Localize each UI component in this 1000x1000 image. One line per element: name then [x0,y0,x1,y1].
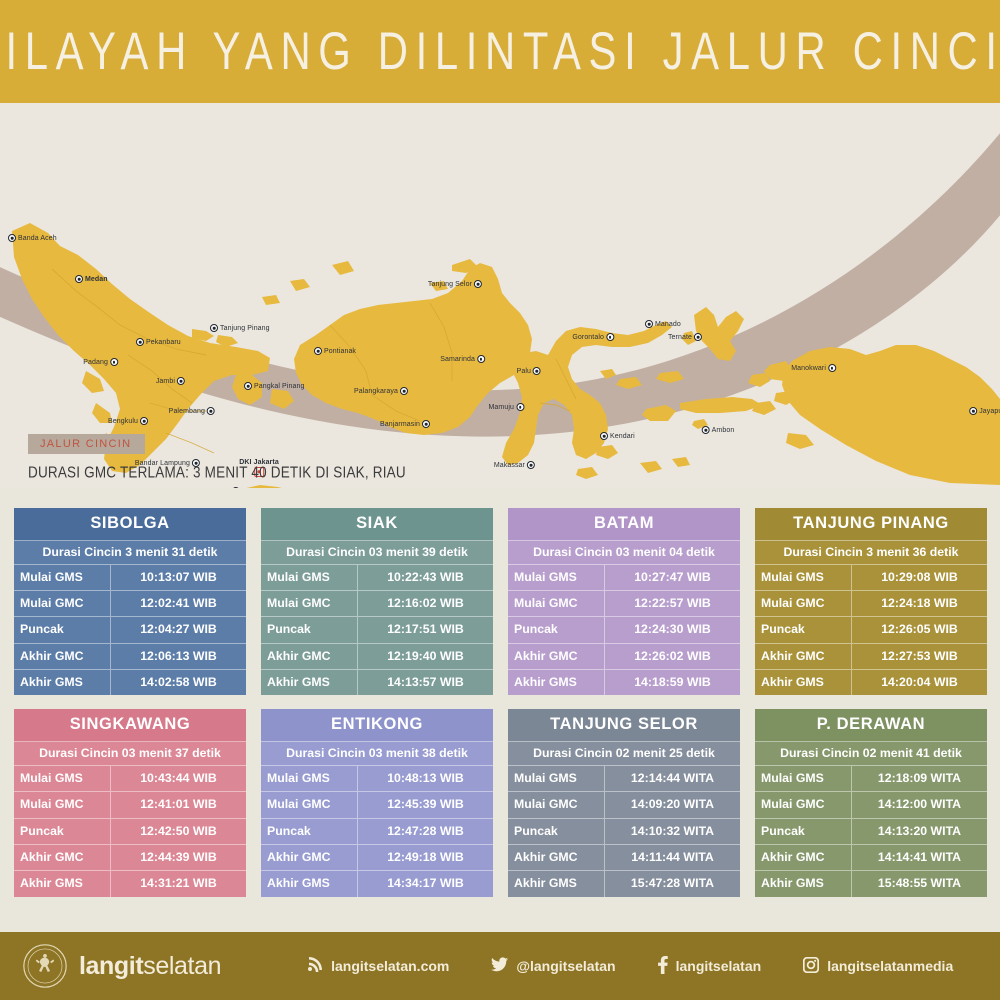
card-row-value: 12:45:39 WIB [357,792,493,817]
card-row: Puncak12:42:50 WIB [14,818,246,844]
card-row-value: 10:27:47 WIB [604,565,740,590]
card-row: Puncak12:04:27 WIB [14,616,246,642]
city-timing-card: TANJUNG PINANGDurasi Cincin 3 menit 36 d… [755,508,987,695]
card-row-value: 12:18:09 WITA [851,766,987,791]
city-timing-card: P. DERAWANDurasi Cincin 02 menit 41 deti… [755,709,987,896]
card-row-label: Mulai GMC [261,792,357,817]
map-city-marker: Manado [645,320,681,328]
card-row-value: 15:47:28 WITA [604,871,740,896]
map-city-marker: Tanjung Pinang [210,324,270,332]
card-duration: Durasi Cincin 02 menit 41 detik [755,742,987,766]
city-dot-icon [8,234,16,242]
card-row-label: Puncak [14,819,110,844]
city-dot-icon [645,320,653,328]
card-duration: Durasi Cincin 03 menit 04 detik [508,541,740,565]
card-row-label: Puncak [755,617,851,642]
card-row: Mulai GMC12:02:41 WIB [14,590,246,616]
card-row-label: Akhir GMC [755,845,851,870]
city-dot-icon [177,377,185,385]
social-link-label: langitselatan [676,958,762,974]
city-name-label: Tanjung Selor [428,281,472,288]
card-title: SIAK [261,508,493,541]
card-row: Mulai GMS10:48:13 WIB [261,766,493,791]
card-row: Puncak12:26:05 WIB [755,616,987,642]
city-dot-icon [210,324,218,332]
card-duration: Durasi Cincin 03 menit 39 detik [261,541,493,565]
map-area: Banda AcehMedanPekanbaruPadangJambiBengk… [0,103,1000,488]
city-dot-icon [516,403,524,411]
card-row-label: Akhir GMS [755,871,851,896]
card-row-label: Akhir GMC [261,644,357,669]
city-name-label: Samarinda [440,356,475,363]
card-row: Akhir GMS14:34:17 WIB [261,870,493,896]
card-row-value: 10:29:08 WIB [851,565,987,590]
card-row-value: 14:14:41 WITA [851,845,987,870]
map-city-marker: Banda Aceh [8,234,57,242]
card-row-value: 14:10:32 WITA [604,819,740,844]
card-duration: Durasi Cincin 02 menit 25 detik [508,742,740,766]
map-city-marker: Medan [75,275,108,283]
map-city-marker: Manokwari [791,364,836,372]
city-dot-icon [232,487,240,488]
card-row: Puncak14:13:20 WITA [755,818,987,844]
city-name-label: Makassar [494,462,525,469]
social-link-instagram[interactable]: langitselatanmedia [803,957,953,976]
city-dot-icon [527,461,535,469]
map-city-marker: Jambi [156,377,185,385]
card-row-value: 10:43:44 WIB [110,766,246,791]
footer-bar: langitselatan langitselatan.com@langitse… [0,932,1000,1000]
card-row-value: 14:11:44 WITA [604,845,740,870]
card-row-label: Akhir GMS [261,670,357,695]
card-row: Akhir GMC12:49:18 WIB [261,844,493,870]
facebook-icon [658,956,668,977]
city-name-label: Ambon [712,427,735,434]
card-row-label: Mulai GMS [14,766,110,791]
card-row-label: Mulai GMS [261,565,357,590]
city-name-label: Medan [85,276,108,283]
city-name-label: Banda Aceh [18,235,57,242]
card-row-label: Puncak [261,617,357,642]
brand-bold: langit [79,952,143,980]
city-name-label: Ternate [668,334,692,341]
card-row-label: Mulai GMC [755,591,851,616]
legend-label: JALUR CINCIN [40,438,131,450]
card-row: Akhir GMC12:44:39 WIB [14,844,246,870]
social-link-label: langitselatanmedia [827,958,953,974]
city-timing-card: TANJUNG SELORDurasi Cincin 02 menit 25 d… [508,709,740,896]
city-name-label: Pangkal Pinang [254,383,304,390]
city-name-label: Bengkulu [108,418,138,425]
social-link-label: langitselatan.com [331,958,449,974]
map-city-marker: Jayapura [969,407,1000,415]
card-row-label: Akhir GMS [508,670,604,695]
city-timing-card: BATAMDurasi Cincin 03 menit 04 detikMula… [508,508,740,695]
card-row-value: 10:22:43 WIB [357,565,493,590]
city-name-label: Manado [655,321,681,328]
card-row-value: 12:02:41 WIB [110,591,246,616]
map-caption: DURASI GMC TERLAMA: 3 MENIT 40 DETIK DI … [28,464,406,481]
map-city-marker: Pontianak [314,347,356,355]
card-row-value: 14:13:57 WIB [357,670,493,695]
card-title: P. DERAWAN [755,709,987,742]
card-row-value: 12:41:01 WIB [110,792,246,817]
city-dot-icon [207,407,215,415]
social-link-label: @langitselatan [516,958,615,974]
city-dot-icon [474,280,482,288]
card-row-value: 12:06:13 WIB [110,644,246,669]
map-city-marker: Gorontalo [572,333,614,341]
card-title: SIBOLGA [14,508,246,541]
card-row-value: 14:34:17 WIB [357,871,493,896]
card-row-label: Mulai GMC [755,792,851,817]
card-row-label: Akhir GMS [14,670,110,695]
card-row: Akhir GMC12:19:40 WIB [261,643,493,669]
landmasses [12,223,1000,488]
indonesia-map [0,103,1000,488]
card-row-label: Akhir GMC [14,845,110,870]
card-row: Akhir GMS15:47:28 WITA [508,870,740,896]
card-row: Mulai GMC12:41:01 WIB [14,791,246,817]
card-row-label: Puncak [14,617,110,642]
card-row-value: 12:49:18 WIB [357,845,493,870]
card-title: TANJUNG SELOR [508,709,740,742]
city-name-label: Pontianak [324,348,356,355]
card-title: ENTIKONG [261,709,493,742]
map-city-marker: Pangkal Pinang [244,382,304,390]
card-row-value: 12:26:05 WIB [851,617,987,642]
city-timing-card: SINGKAWANGDurasi Cincin 03 menit 37 deti… [14,709,246,896]
city-dot-icon [136,338,144,346]
city-name-label: Palu [517,368,531,375]
card-row: Akhir GMC12:26:02 WIB [508,643,740,669]
city-name-label: Gorontalo [572,334,604,341]
card-row: Puncak12:47:28 WIB [261,818,493,844]
city-dot-icon [477,355,485,363]
card-row-label: Puncak [508,617,604,642]
city-dot-icon [400,387,408,395]
card-row: Akhir GMS14:31:21 WIB [14,870,246,896]
map-city-marker: Padang [83,358,118,366]
page-title: WILAYAH YANG DILINTASI JALUR CINCIN [0,21,1000,81]
map-city-marker: Banjarmasin [380,420,430,428]
card-row-label: Akhir GMS [14,871,110,896]
card-row-value: 12:42:50 WIB [110,819,246,844]
city-timing-card-grid: SIBOLGADurasi Cincin 3 menit 31 detikMul… [14,508,986,897]
card-row: Mulai GMC14:12:00 WITA [755,791,987,817]
map-city-marker: Kendari [600,432,635,440]
map-city-marker: Makassar [494,461,535,469]
city-dot-icon [422,420,430,428]
card-duration: Durasi Cincin 3 menit 31 detik [14,541,246,565]
card-row-label: Puncak [508,819,604,844]
city-name-label: Mamuju [489,404,515,411]
card-row-label: Mulai GMS [755,565,851,590]
city-name-label: Jayapura [979,408,1000,415]
map-city-marker: Palu [517,367,541,375]
card-row: Mulai GMS10:22:43 WIB [261,565,493,590]
card-duration: Durasi Cincin 3 menit 36 detik [755,541,987,565]
map-city-marker: Ternate [668,333,702,341]
card-row-label: Mulai GMC [508,792,604,817]
card-row-label: Mulai GMS [508,766,604,791]
card-row: Mulai GMS10:13:07 WIB [14,565,246,590]
card-row: Mulai GMC12:22:57 WIB [508,590,740,616]
social-link-twitter[interactable]: @langitselatan [491,957,615,975]
city-dot-icon [606,333,614,341]
social-links: langitselatan.com@langitselatanlangitsel… [307,956,953,977]
card-title: BATAM [508,508,740,541]
city-dot-icon [110,358,118,366]
card-row: Akhir GMS14:13:57 WIB [261,669,493,695]
city-timing-card: SIAKDurasi Cincin 03 menit 39 detikMulai… [261,508,493,695]
card-row-value: 12:16:02 WIB [357,591,493,616]
card-row-label: Puncak [261,819,357,844]
brand-wordmark: langitselatan [79,954,221,979]
city-name-label: Padang [83,359,108,366]
card-row: Mulai GMS12:18:09 WITA [755,766,987,791]
card-row: Akhir GMC12:27:53 WIB [755,643,987,669]
instagram-icon [803,957,819,976]
card-row-label: Mulai GMS [14,565,110,590]
card-row-label: Puncak [755,819,851,844]
card-row-value: 12:24:30 WIB [604,617,740,642]
card-row-label: Mulai GMC [14,591,110,616]
card-row: Akhir GMS14:02:58 WIB [14,669,246,695]
card-row-label: Mulai GMS [508,565,604,590]
map-city-marker: Palembang [169,407,215,415]
card-row-value: 14:09:20 WITA [604,792,740,817]
card-row-label: Akhir GMC [508,845,604,870]
card-row-value: 12:44:39 WIB [110,845,246,870]
city-name-label: Palembang [169,408,205,415]
card-row-value: 14:31:21 WIB [110,871,246,896]
city-dot-icon [702,426,710,434]
card-row-label: Akhir GMS [261,871,357,896]
card-row-value: 12:24:18 WIB [851,591,987,616]
card-row-label: Akhir GMS [508,871,604,896]
card-row: Puncak12:17:51 WIB [261,616,493,642]
card-row: Mulai GMC12:45:39 WIB [261,791,493,817]
city-timing-card: SIBOLGADurasi Cincin 3 menit 31 detikMul… [14,508,246,695]
card-row-value: 10:48:13 WIB [357,766,493,791]
city-dot-icon [600,432,608,440]
city-dot-icon [694,333,702,341]
city-dot-icon [75,275,83,283]
card-row-value: 12:22:57 WIB [604,591,740,616]
map-city-marker: Samarinda [440,355,485,363]
rss-icon [307,957,323,976]
card-row-value: 15:48:55 WITA [851,871,987,896]
card-row-value: 12:17:51 WIB [357,617,493,642]
city-name-label: Palangkaraya [354,388,398,395]
map-city-marker: Serang [207,487,240,488]
card-row: Mulai GMC12:24:18 WIB [755,590,987,616]
city-dot-icon [969,407,977,415]
city-dot-icon [828,364,836,372]
card-row: Puncak14:10:32 WITA [508,818,740,844]
card-row: Akhir GMC12:06:13 WIB [14,643,246,669]
map-city-marker: Tanjung Selor [428,280,482,288]
card-row-label: Mulai GMC [508,591,604,616]
card-row: Akhir GMS14:20:04 WIB [755,669,987,695]
card-row-label: Akhir GMC [14,644,110,669]
city-name-label: Tanjung Pinang [220,325,270,332]
card-row: Mulai GMS12:14:44 WITA [508,766,740,791]
card-row: Akhir GMC14:14:41 WITA [755,844,987,870]
card-row-value: 12:04:27 WIB [110,617,246,642]
brand-block: langitselatan [0,943,221,989]
map-city-marker: Pekanbaru [136,338,181,346]
card-row-value: 14:02:58 WIB [110,670,246,695]
card-row-label: Mulai GMS [755,766,851,791]
card-row: Mulai GMC12:16:02 WIB [261,590,493,616]
city-name-label: Banjarmasin [380,421,420,428]
map-city-marker: Mamuju [489,403,525,411]
map-city-marker: Palangkaraya [354,387,408,395]
city-name-label: Kendari [610,433,635,440]
city-timing-card: ENTIKONGDurasi Cincin 03 menit 38 detikM… [261,709,493,896]
city-name-label: Manokwari [791,365,826,372]
card-row: Mulai GMS10:29:08 WIB [755,565,987,590]
card-row: Mulai GMC14:09:20 WITA [508,791,740,817]
card-row-label: Akhir GMC [508,644,604,669]
map-city-marker: Bengkulu [108,417,148,425]
card-row: Akhir GMS14:18:59 WIB [508,669,740,695]
card-row-value: 14:20:04 WIB [851,670,987,695]
card-row: Mulai GMS10:27:47 WIB [508,565,740,590]
card-row-value: 12:27:53 WIB [851,644,987,669]
card-row: Puncak12:24:30 WIB [508,616,740,642]
city-dot-icon [314,347,322,355]
card-row-label: Akhir GMC [755,644,851,669]
card-duration: Durasi Cincin 03 menit 38 detik [261,742,493,766]
card-duration: Durasi Cincin 03 menit 37 detik [14,742,246,766]
social-link-rss[interactable]: langitselatan.com [307,957,449,976]
card-row-label: Mulai GMC [261,591,357,616]
card-row-value: 10:13:07 WIB [110,565,246,590]
card-row-value: 14:18:59 WIB [604,670,740,695]
twitter-icon [491,957,508,975]
card-row-label: Akhir GMS [755,670,851,695]
card-row: Akhir GMC14:11:44 WITA [508,844,740,870]
card-row-label: Akhir GMC [261,845,357,870]
header-banner: WILAYAH YANG DILINTASI JALUR CINCIN [0,0,1000,103]
card-row-label: Mulai GMC [14,792,110,817]
card-title: TANJUNG PINANG [755,508,987,541]
map-city-marker: Ambon [702,426,735,434]
card-row: Akhir GMS15:48:55 WITA [755,870,987,896]
city-name-label: Jambi [156,378,175,385]
city-name-label: Serang [207,488,230,489]
card-row: Mulai GMS10:43:44 WIB [14,766,246,791]
card-row-value: 14:12:00 WITA [851,792,987,817]
card-title: SINGKAWANG [14,709,246,742]
city-dot-icon [244,382,252,390]
card-row-value: 12:47:28 WIB [357,819,493,844]
card-row-value: 12:26:02 WIB [604,644,740,669]
legend-jalur-cincin: JALUR CINCIN [28,434,145,454]
card-row-value: 14:13:20 WITA [851,819,987,844]
brand-light: selatan [143,952,221,980]
city-dot-icon [533,367,541,375]
card-row-value: 12:19:40 WIB [357,644,493,669]
infographic-page: WILAYAH YANG DILINTASI JALUR CINCIN [0,0,1000,1000]
langitselatan-seal-icon [22,943,68,989]
city-name-label: Pekanbaru [146,339,181,346]
card-row-value: 12:14:44 WITA [604,766,740,791]
social-link-facebook[interactable]: langitselatan [658,956,762,977]
card-row-label: Mulai GMS [261,766,357,791]
city-dot-icon [140,417,148,425]
